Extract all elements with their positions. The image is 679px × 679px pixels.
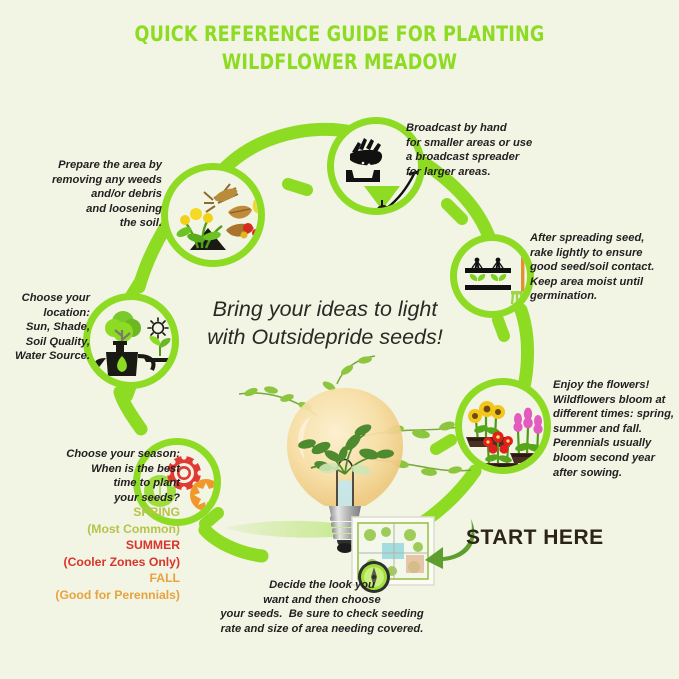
caption-choose-season: Choose your season: When is the best tim… [10, 447, 180, 505]
caption-decide-look: Decide the look you want and then choose… [182, 578, 462, 636]
season-spring-label: SPRING [8, 504, 180, 521]
slogan-line1: Bring your ideas to light [175, 295, 475, 323]
step-node-prepare-area[interactable] [161, 163, 265, 267]
season-summer-note: (Cooler Zones Only) [8, 554, 180, 571]
flower-planters-icon [462, 385, 544, 467]
caption-rake-lightly: After spreading seed, rake lightly to en… [530, 231, 679, 304]
center-slogan: Bring your ideas to light with Outsidepr… [175, 295, 475, 351]
infographic-page: QUICK REFERENCE GUIDE FOR PLANTING WILDF… [0, 0, 679, 679]
season-spring-note: (Most Common) [8, 521, 180, 538]
tree-sun-wateringcan-icon [90, 300, 172, 382]
slogan-line2: with Outsidepride seeds! [175, 323, 475, 351]
weeds-debris-soil-icon [168, 170, 258, 260]
caption-prepare-area: Prepare the area by removing any weeds a… [42, 158, 162, 231]
step-node-enjoy-flowers[interactable] [455, 378, 551, 474]
caption-enjoy-flowers: Enjoy the flowers! Wildflowers bloom at … [553, 378, 679, 480]
season-fall-note: (Good for Perennials) [8, 587, 180, 604]
season-fall-label: FALL [8, 570, 180, 587]
step-node-choose-location[interactable] [83, 293, 179, 389]
season-summer-label: SUMMER [8, 537, 180, 554]
season-legend: SPRING (Most Common) SUMMER (Cooler Zone… [8, 504, 180, 603]
caption-choose-location: Choose your location: Sun, Shade, Soil Q… [4, 291, 90, 364]
start-here-label: START HERE [466, 526, 604, 550]
caption-broadcast-seed: Broadcast by hand for smaller areas or u… [406, 121, 566, 179]
